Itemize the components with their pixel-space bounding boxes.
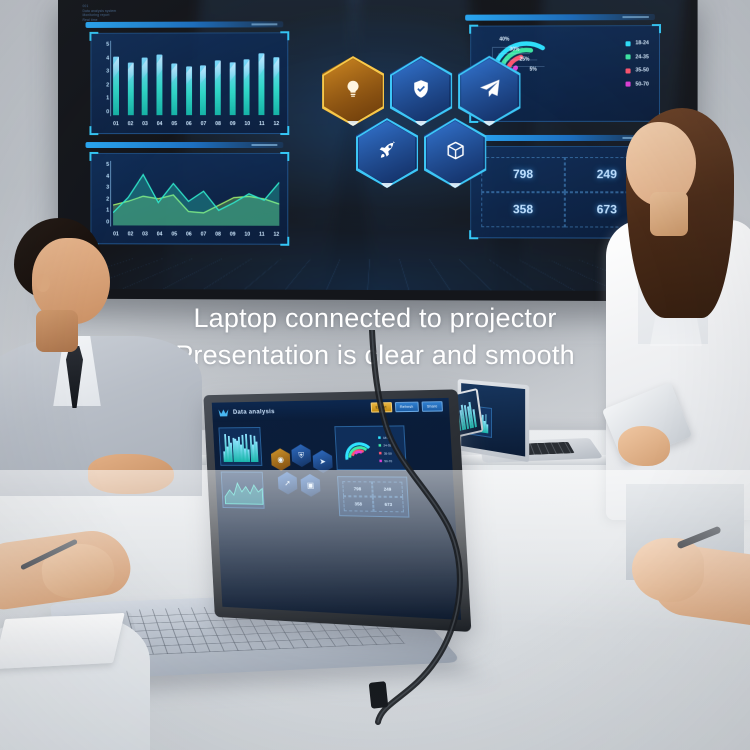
rocket-icon <box>376 140 397 166</box>
mini-hex-lightbulb: ◉ <box>271 448 291 471</box>
laptop-app-topbar: Data analysis ExportRefreshShare <box>212 398 450 422</box>
corner-marker <box>469 25 478 34</box>
cube-icon <box>445 140 466 166</box>
panel-header-bar <box>86 142 284 148</box>
screen-corner-note: 001 Data analysis system Monitoring repo… <box>83 4 117 22</box>
x-tick: 10 <box>244 121 250 127</box>
bar <box>259 53 265 115</box>
kpi-value: 358 <box>513 202 533 216</box>
bar-chart-x-axis: 010203040506070809101112 <box>113 119 279 129</box>
mini-kpi-cell: 798 <box>342 481 373 496</box>
right-pen <box>676 526 721 550</box>
legend-swatch <box>625 68 630 73</box>
corner-marker <box>280 237 289 246</box>
mini-hex-plane: ➤ <box>312 450 333 473</box>
svg-text:50-70: 50-70 <box>384 459 393 463</box>
x-tick: 05 <box>171 121 177 127</box>
legend-swatch <box>625 82 630 87</box>
bar <box>244 59 250 115</box>
hexagon-cluster <box>302 36 502 217</box>
notebook <box>0 613 125 669</box>
bar-chart-y-axis: 5 4 3 2 1 0 <box>97 42 109 115</box>
x-tick: 11 <box>259 232 264 238</box>
scene-root: 001 Data analysis system Monitoring repo… <box>0 0 750 750</box>
bar-chart-panel: 5 4 3 2 1 0 010203040506070809101112 <box>90 32 288 134</box>
donut-legend: 18-2424-3535-5050-70 <box>625 40 649 87</box>
line-chart-plot <box>113 162 279 226</box>
paper-plane-icon <box>478 77 501 105</box>
corner-marker <box>652 24 661 33</box>
mini-bar-panel <box>218 427 262 466</box>
corner-marker <box>469 230 478 239</box>
svg-text:24-35: 24-35 <box>383 443 392 447</box>
bar <box>113 56 119 115</box>
bar-chart-plot <box>113 41 279 115</box>
x-tick: 08 <box>215 121 221 127</box>
mini-bar <box>487 424 489 434</box>
mini-donut-panel: 18-2424-3535-5050-70 <box>334 425 406 470</box>
bar <box>273 58 279 116</box>
mini-bar <box>255 441 258 462</box>
woman-hand <box>618 426 670 466</box>
laptop-button-share[interactable]: Share <box>421 401 443 412</box>
mini-kpi-cell: 358 <box>343 496 374 512</box>
corner-marker <box>280 126 289 135</box>
bar <box>200 65 206 115</box>
x-tick: 07 <box>201 232 207 238</box>
mini-kpi-panel: 798249358673 <box>337 476 409 517</box>
x-tick: 12 <box>273 232 279 238</box>
legend-item: 35-50 <box>625 67 649 73</box>
x-tick: 07 <box>201 121 207 127</box>
brand-logo-icon <box>218 408 228 417</box>
hex-shield-check <box>390 56 452 126</box>
woman-neck <box>650 192 688 236</box>
hex-cube <box>424 118 486 188</box>
x-tick: 06 <box>186 121 192 127</box>
mini-hex-shield: ⛨ <box>291 444 311 467</box>
x-tick: 08 <box>215 232 221 238</box>
lightbulb-icon <box>342 78 364 105</box>
man-neck <box>36 310 78 352</box>
bar <box>142 58 148 115</box>
bar <box>171 64 177 116</box>
corner-marker <box>89 126 98 135</box>
corner-marker <box>280 152 289 161</box>
bar <box>186 67 192 116</box>
x-tick: 09 <box>230 121 236 127</box>
legend-label: 35-50 <box>635 67 648 73</box>
area-series <box>113 162 279 226</box>
standing-woman-right <box>598 108 750 578</box>
main-laptop-lid: Data analysis ExportRefreshShare <box>203 389 471 632</box>
laptop-button-refresh[interactable]: Refresh <box>394 402 418 413</box>
svg-text:35-50: 35-50 <box>384 451 393 455</box>
mini-hex-rocket: ➚ <box>278 472 298 495</box>
line-chart-y-axis: 5 4 3 2 1 0 <box>97 162 109 226</box>
legend-label: 50-70 <box>635 81 648 87</box>
bar <box>215 61 221 116</box>
legend-label: 18-24 <box>635 40 648 46</box>
laptop-app-title: Data analysis <box>233 408 275 415</box>
x-tick: 01 <box>113 121 119 127</box>
legend-swatch <box>625 54 630 59</box>
laptop-button-export[interactable]: Export <box>370 402 392 413</box>
line-chart-axis-line <box>110 161 111 227</box>
bar-chart-axis-line <box>110 41 111 116</box>
x-tick: 02 <box>128 121 134 127</box>
x-tick: 04 <box>157 121 163 127</box>
bar-series <box>113 41 279 115</box>
x-tick: 03 <box>142 121 148 127</box>
bar <box>157 55 163 115</box>
mini-line-panel <box>221 472 265 509</box>
legend-label: 24-35 <box>635 54 648 60</box>
legend-item: 24-35 <box>625 54 649 60</box>
svg-text:18-24: 18-24 <box>383 436 392 440</box>
x-tick: 09 <box>230 232 236 238</box>
donut-value-label: 25% <box>519 57 529 63</box>
main-laptop-screen: Data analysis ExportRefreshShare <box>212 398 461 620</box>
hex-rocket <box>356 118 418 188</box>
x-tick: 11 <box>259 121 264 127</box>
mini-kpi-cell: 249 <box>372 481 403 497</box>
bar <box>128 62 134 115</box>
laptop-app-buttons[interactable]: ExportRefreshShare <box>370 401 443 412</box>
corner-marker <box>89 32 98 41</box>
panel-header-bar <box>86 21 284 28</box>
donut-value-label: 5% <box>530 67 537 73</box>
mini-line-svg <box>224 474 264 507</box>
mini-donut-svg: 18-2424-3535-5050-70 <box>335 426 405 469</box>
mini-kpi-cell: 673 <box>373 497 404 513</box>
hand-bottom-right <box>618 528 750 648</box>
right-hand <box>632 538 704 602</box>
corner-marker <box>280 31 289 40</box>
panel-header-bar <box>465 14 655 21</box>
donut-value-label: 30% <box>509 47 519 53</box>
bar <box>229 62 235 115</box>
legend-item: 18-24 <box>625 40 649 46</box>
kpi-value: 798 <box>513 167 533 181</box>
legend-swatch <box>625 41 630 46</box>
x-tick: 12 <box>273 121 279 127</box>
legend-item: 50-70 <box>625 81 649 87</box>
corner-marker <box>89 152 98 161</box>
note-taker-bottom-left <box>0 530 220 750</box>
x-tick: 10 <box>244 232 250 238</box>
mini-hex-cube: ▣ <box>300 474 320 497</box>
shield-check-icon <box>410 77 432 104</box>
man-ear <box>36 274 50 292</box>
hex-lightbulb <box>322 56 384 126</box>
area-chart-svg <box>113 162 279 226</box>
